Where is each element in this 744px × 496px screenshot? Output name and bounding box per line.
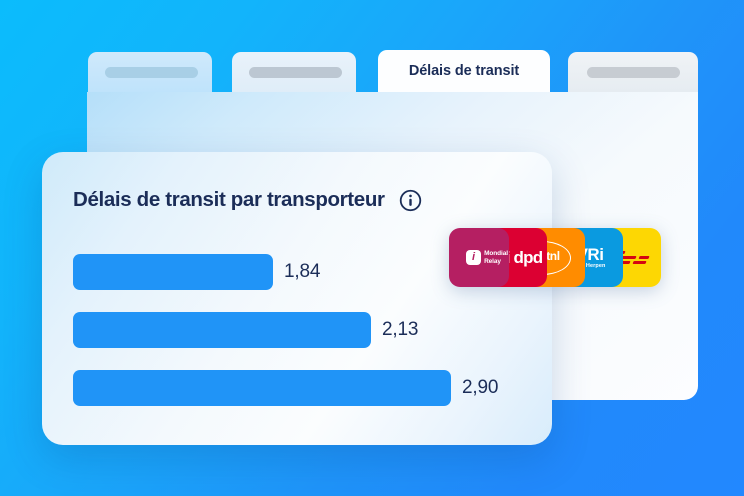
bar-value-label: 2,13 (382, 319, 418, 341)
carrier-logo-mondial-relay: i Mondial Relay (449, 228, 509, 287)
bar-value-label: 1,84 (284, 261, 320, 283)
card-header: Délais de transit par transporteur (73, 188, 422, 212)
bar[interactable] (73, 254, 273, 290)
bar-value-label: 2,90 (462, 377, 498, 399)
info-circle-icon[interactable] (399, 189, 422, 212)
mondial-relay-line2: Relay (484, 258, 508, 266)
mondial-relay-wordmark: Mondial Relay (484, 250, 508, 265)
tab-label: Délais de transit (409, 63, 519, 79)
card-title: Délais de transit par transporteur (73, 188, 385, 212)
tab-label-placeholder (587, 67, 680, 78)
tab-delais-de-transit[interactable]: Délais de transit (378, 50, 550, 92)
tab-label-placeholder (105, 67, 198, 78)
bar[interactable] (73, 370, 451, 406)
transit-times-chart-card: Délais de transit par transporteur 1,84 … (42, 152, 552, 445)
bar-row: 2,13 (73, 312, 523, 348)
tab-placeholder-2[interactable] (232, 52, 356, 92)
tab-placeholder-1[interactable] (88, 52, 212, 92)
tab-label-placeholder (249, 67, 342, 78)
tab-placeholder-4[interactable] (568, 52, 698, 92)
tab-strip: Délais de transit (87, 48, 698, 92)
mondial-relay-line1: Mondial (484, 250, 508, 258)
dpd-wordmark: i dpd (506, 248, 543, 268)
carrier-logo-strip: i Mondial Relay i dpd p ostnl VRi van He… (449, 228, 645, 287)
bar[interactable] (73, 312, 371, 348)
app-background: Délais de transit i Mondial Relay i dpd (0, 0, 744, 496)
mondial-relay-mark-icon: i (466, 250, 481, 265)
bar-row: 2,90 (73, 370, 523, 406)
